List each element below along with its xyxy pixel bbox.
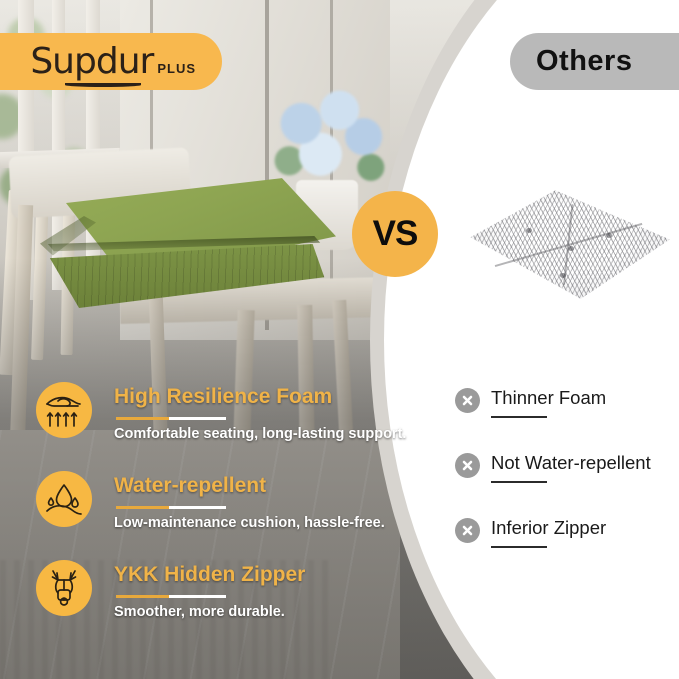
feature-subtitle: Smoother, more durable. [114,604,285,620]
drawback-item-not-water-repellent: Not Water-repellent [455,453,679,518]
competitor-label-badge: Others [510,33,679,90]
zipper-icon [36,560,92,616]
drawback-label: Thinner Foam [491,387,606,409]
product-image-our-cushion [36,176,336,308]
drawback-label: Not Water-repellent [491,452,651,474]
drawback-item-thinner-foam: Thinner Foam [455,388,679,453]
cushion-tuft [526,228,532,233]
cushion-tuft [560,273,566,278]
water-droplet-icon [36,471,92,527]
x-circle-icon [455,518,480,543]
versus-badge: VS [352,191,438,277]
product-image-competitor-cushion [462,188,674,300]
comparison-infographic: Supdur PLUS Others VS [0,0,679,679]
drawback-label: Inferior Zipper [491,517,606,539]
drawback-divider [491,416,547,418]
feature-divider [116,417,226,420]
drawback-item-inferior-zipper: Inferior Zipper [455,518,679,583]
feature-title: High Resilience Foam [114,385,332,409]
cushion-side-face [44,244,336,308]
cushion-tuft [606,233,612,238]
feature-divider [116,595,226,598]
feature-subtitle: Comfortable seating, long-lasting suppor… [114,426,406,442]
brand-plus-label: PLUS [157,61,196,76]
feature-subtitle: Low-maintenance cushion, hassle-free. [114,515,385,531]
foam-support-icon [36,382,92,438]
drawback-divider [491,481,547,483]
feature-list: High Resilience Foam Comfortable seating… [36,378,386,645]
x-circle-icon [455,453,480,478]
feature-divider [116,506,226,509]
brand-wordmark: Supdur [30,44,153,80]
competitor-drawback-list: Thinner Foam Not Water-repellent Inferio… [455,388,679,583]
feature-item-ykk-hidden-zipper: YKK Hidden Zipper Smoother, more durable… [36,556,386,645]
feature-item-high-resilience-foam: High Resilience Foam Comfortable seating… [36,378,386,467]
x-circle-icon [455,388,480,413]
feature-title: Water-repellent [114,474,266,498]
feature-item-water-repellent: Water-repellent Low-maintenance cushion,… [36,467,386,556]
versus-label: VS [373,214,418,254]
feature-title: YKK Hidden Zipper [114,563,305,587]
drawback-divider [491,546,547,548]
competitor-label: Others [536,45,632,78]
brand-logo-badge: Supdur PLUS [0,33,222,90]
